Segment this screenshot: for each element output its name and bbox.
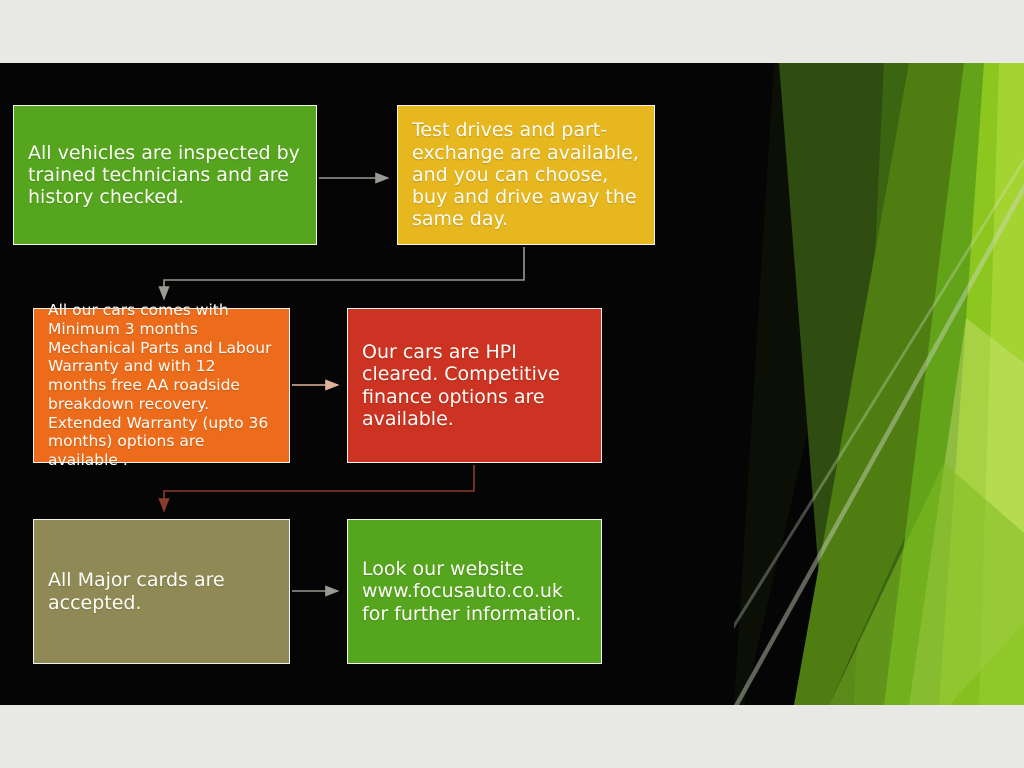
node-hpi-finance-text: Our cars are HPI cleared. Competitive fi… xyxy=(348,341,601,430)
presentation-slide: All vehicles are inspected by trained te… xyxy=(0,63,1024,705)
arrow-hpi-finance-to-cards xyxy=(164,465,474,511)
node-inspection-text: All vehicles are inspected by trained te… xyxy=(14,142,316,209)
node-test-drives[interactable]: Test drives and part-exchange are availa… xyxy=(397,105,655,245)
node-cards-text: All Major cards are accepted. xyxy=(34,569,289,613)
node-warranty-text: All our cars comes with Minimum 3 months… xyxy=(34,301,289,470)
letterbox-bottom xyxy=(0,705,1024,768)
slide-stage: All vehicles are inspected by trained te… xyxy=(0,0,1024,768)
arrow-test-drives-to-warranty xyxy=(164,247,524,299)
node-cards[interactable]: All Major cards are accepted. xyxy=(33,519,290,664)
letterbox-top xyxy=(0,0,1024,63)
node-website-text: Look our website www.focusauto.co.uk for… xyxy=(348,558,601,625)
node-hpi-finance[interactable]: Our cars are HPI cleared. Competitive fi… xyxy=(347,308,602,463)
node-inspection[interactable]: All vehicles are inspected by trained te… xyxy=(13,105,317,245)
node-website[interactable]: Look our website www.focusauto.co.uk for… xyxy=(347,519,602,664)
node-test-drives-text: Test drives and part-exchange are availa… xyxy=(398,119,654,230)
node-warranty[interactable]: All our cars comes with Minimum 3 months… xyxy=(33,308,290,463)
